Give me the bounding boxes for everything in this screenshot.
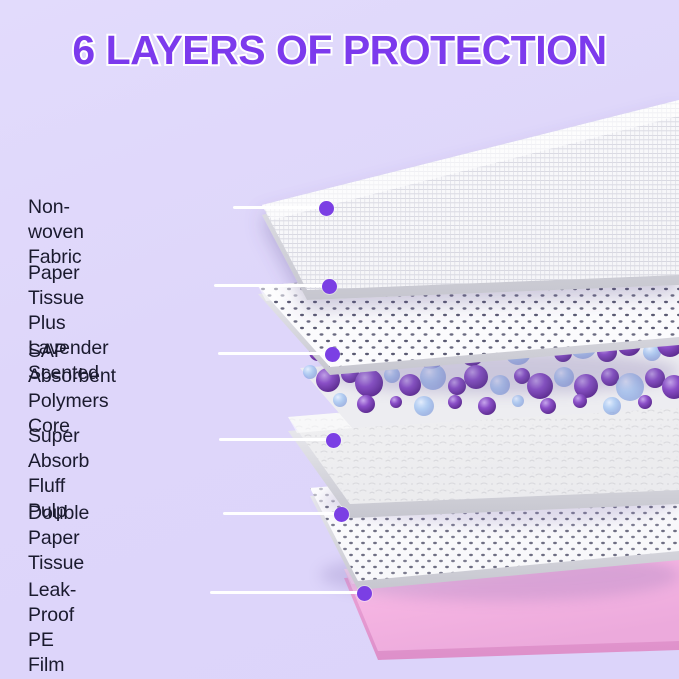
leader-dot-super-absorb-fluff-pulp[interactable] <box>326 433 341 448</box>
leader-dot-leak-proof-pe-film[interactable] <box>357 586 372 601</box>
leader-dot-sap-absorbent-polymers-core[interactable] <box>325 347 340 362</box>
leader-line-leak-proof-pe-film <box>210 591 364 594</box>
layer-non-woven-fabric <box>262 100 679 300</box>
page-title: 6 LAYERS OF PROTECTION <box>0 27 679 74</box>
callout-label-leak-proof-pe-film: Leak-Proof PE Film <box>28 578 76 678</box>
leader-line-super-absorb-fluff-pulp <box>219 438 333 441</box>
leader-line-non-woven-fabric <box>233 206 326 209</box>
leader-dot-paper-tissue-plus-lavender-scented[interactable] <box>322 279 337 294</box>
leader-dot-double-paper-tissue[interactable] <box>334 507 349 522</box>
leader-line-double-paper-tissue <box>223 512 341 515</box>
leader-line-paper-tissue-plus-lavender-scented <box>214 284 329 287</box>
leader-dot-non-woven-fabric[interactable] <box>319 201 334 216</box>
leader-line-sap-absorbent-polymers-core <box>218 352 332 355</box>
layers-infographic: 6 LAYERS OF PROTECTION <box>0 0 679 679</box>
callout-label-non-woven-fabric: Non-woven Fabric <box>28 195 84 270</box>
callout-label-double-paper-tissue: Double Paper Tissue <box>28 501 89 576</box>
